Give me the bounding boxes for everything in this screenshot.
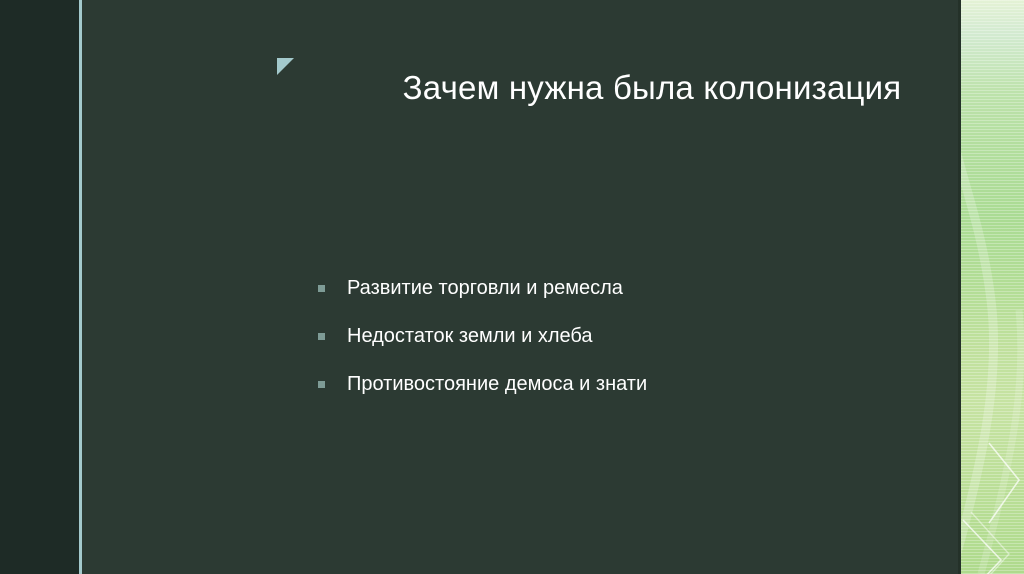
presentation-slide: Зачем нужна была колонизация Развитие то… — [0, 0, 1024, 574]
square-bullet-icon — [318, 381, 325, 388]
list-item: Развитие торговли и ремесла — [318, 276, 958, 324]
slide-body-panel: Зачем нужна была колонизация Развитие то… — [82, 0, 960, 574]
bullet-list: Развитие торговли и ремесла Недостаток з… — [318, 276, 958, 420]
list-item: Недостаток земли и хлеба — [318, 324, 958, 372]
square-bullet-icon — [318, 285, 325, 292]
swoosh-decoration — [961, 0, 1024, 574]
chevron-right-icon — [961, 0, 1024, 574]
list-item-label: Противостояние демоса и знати — [347, 372, 647, 397]
list-item-label: Развитие торговли и ремесла — [347, 276, 623, 301]
left-margin-strip — [0, 0, 79, 574]
decorative-green-panel — [961, 0, 1024, 574]
list-item-label: Недостаток земли и хлеба — [347, 324, 593, 349]
panel-scanline-texture — [961, 0, 1024, 574]
slide-title: Зачем нужна была колонизация — [282, 68, 1022, 108]
square-bullet-icon — [318, 333, 325, 340]
list-item: Противостояние демоса и знати — [318, 372, 958, 420]
